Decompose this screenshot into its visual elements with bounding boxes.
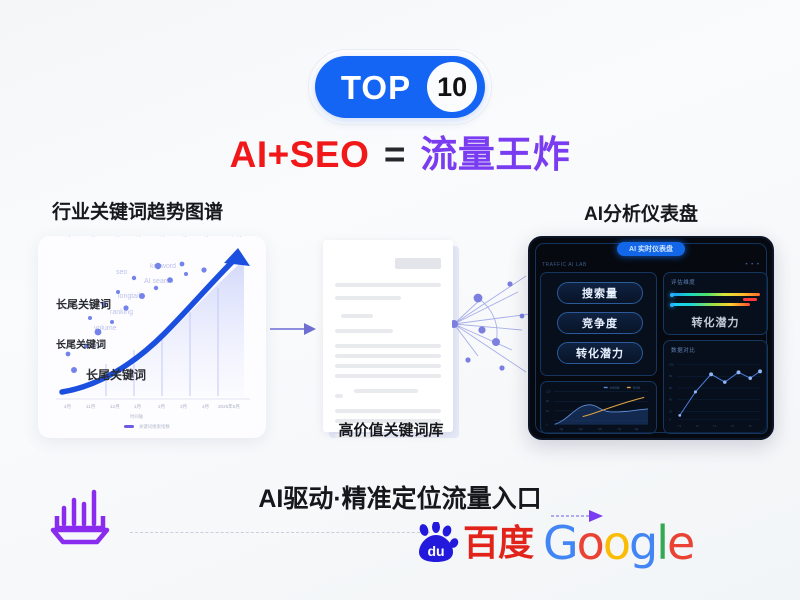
purple-arrow-icon bbox=[551, 508, 607, 522]
headline-left: AI+SEO bbox=[230, 134, 370, 175]
google-letter-o2: o bbox=[603, 516, 629, 570]
headline-right: 流量王炸 bbox=[420, 134, 570, 175]
google-letter-g1: G bbox=[543, 516, 577, 570]
svg-text:80: 80 bbox=[669, 374, 673, 378]
google-letter-e: e bbox=[667, 516, 693, 570]
svg-text:5月: 5月 bbox=[598, 427, 602, 431]
dashboard-topbar: AI 实时仪表盘 bbox=[530, 238, 772, 260]
svg-text:本期流量: 本期流量 bbox=[610, 386, 621, 390]
svg-text:11月: 11月 bbox=[86, 236, 95, 238]
baidu-wordmark: 百度 bbox=[463, 525, 533, 561]
svg-text:T4: T4 bbox=[731, 424, 735, 428]
gauge-overlay-label: 转化潜力 bbox=[664, 314, 767, 330]
top-badge-number: 10 bbox=[427, 62, 477, 112]
document-page bbox=[323, 240, 453, 432]
google-logo: Google bbox=[543, 520, 693, 566]
svg-text:4月: 4月 bbox=[202, 404, 209, 410]
svg-text:3月: 3月 bbox=[180, 404, 187, 410]
svg-text:longtail: longtail bbox=[118, 293, 141, 300]
svg-text:AI search: AI search bbox=[144, 278, 174, 285]
svg-text:40: 40 bbox=[546, 410, 549, 413]
svg-text:4月: 4月 bbox=[64, 404, 71, 410]
svg-text:2025年5月: 2025年5月 bbox=[220, 236, 242, 238]
svg-text:100: 100 bbox=[669, 362, 674, 366]
left-section-caption: 行业关键词趋势图谱 bbox=[52, 197, 223, 224]
svg-text:12月: 12月 bbox=[110, 404, 120, 410]
dashboard-title-pill: AI 实时仪表盘 bbox=[617, 242, 685, 256]
dashboard-kpi-panel: 搜索量 竞争度 转化潜力 bbox=[540, 272, 657, 376]
headline-equals: = bbox=[374, 134, 416, 175]
dashboard-menu-icon[interactable]: • • • bbox=[745, 262, 760, 268]
svg-text:volume: volume bbox=[94, 325, 117, 332]
svg-text:keyword: keyword bbox=[150, 263, 176, 270]
svg-text:预测值: 预测值 bbox=[633, 386, 641, 390]
svg-text:11月: 11月 bbox=[86, 404, 95, 410]
keyword-trend-chart: keyword AI search longtail ranking volum… bbox=[38, 236, 266, 438]
bottom-divider bbox=[130, 532, 430, 533]
svg-text:seo: seo bbox=[116, 269, 127, 276]
svg-text:时间轴: 时间轴 bbox=[130, 413, 144, 420]
top-badge-label: TOP bbox=[341, 71, 427, 104]
gauge-panel-title: 评估维度 bbox=[671, 278, 695, 286]
svg-text:60: 60 bbox=[669, 386, 673, 390]
gauge-bar-strength-a bbox=[672, 293, 760, 296]
svg-text:4月: 4月 bbox=[64, 236, 71, 238]
svg-text:20: 20 bbox=[669, 409, 673, 413]
svg-text:1月: 1月 bbox=[134, 236, 141, 238]
baidu-paw-icon: du bbox=[415, 522, 459, 564]
trend-label-2: 长尾关键词 bbox=[56, 338, 106, 351]
keyword-network-diagram bbox=[452, 268, 532, 380]
svg-text:3月: 3月 bbox=[579, 427, 583, 431]
svg-text:T2: T2 bbox=[695, 424, 699, 428]
gauge-alert-chip bbox=[743, 298, 757, 301]
dashboard-traffic-panel: 12080 400 1月3月 5月7月9月 本期流量 预测值 bbox=[540, 381, 657, 434]
dashboard-comparison-chart: 10080 6040 200 T1T2 T3T4T5 bbox=[664, 341, 767, 433]
flow-arrow-right-icon bbox=[270, 322, 316, 336]
gauge-marker-b bbox=[670, 303, 674, 307]
svg-text:ranking: ranking bbox=[110, 309, 133, 316]
dashboard-gauge-panel: 评估维度 转化潜力 bbox=[663, 272, 768, 335]
google-letter-o1: o bbox=[577, 516, 603, 570]
google-letter-g2: g bbox=[629, 516, 656, 570]
svg-text:2025年5月: 2025年5月 bbox=[218, 403, 240, 410]
svg-text:9月: 9月 bbox=[635, 427, 639, 431]
gauge-bar-strength-b bbox=[672, 303, 750, 306]
dashboard-traffic-chart: 12080 400 1月3月 5月7月9月 本期流量 预测值 bbox=[541, 382, 656, 433]
gauge-marker-a bbox=[670, 293, 674, 297]
svg-text:0: 0 bbox=[669, 417, 671, 421]
kpi-pill-competition[interactable]: 竞争度 bbox=[557, 312, 643, 334]
svg-text:关键词搜索指数: 关键词搜索指数 bbox=[139, 423, 170, 430]
svg-text:12月: 12月 bbox=[110, 236, 120, 238]
svg-text:T1: T1 bbox=[678, 424, 682, 428]
svg-text:4月: 4月 bbox=[202, 236, 209, 238]
svg-text:1月: 1月 bbox=[134, 404, 141, 410]
svg-text:0: 0 bbox=[546, 423, 548, 426]
dashboard-comparison-panel: 数据对比 10080 6040 200 bbox=[663, 340, 768, 434]
svg-text:T5: T5 bbox=[748, 424, 752, 428]
trend-label-3: 长尾关键词 bbox=[86, 367, 146, 382]
page-title: AI+SEO = 流量王炸 bbox=[0, 124, 800, 178]
google-wordmark: Google bbox=[543, 520, 693, 566]
baidu-logo: du 百度 bbox=[415, 522, 533, 564]
svg-text:120: 120 bbox=[546, 391, 551, 394]
top-badge: TOP 10 bbox=[315, 56, 485, 118]
svg-text:80: 80 bbox=[546, 400, 549, 403]
bottom-slogan: AI驱动·精准定位流量入口 bbox=[0, 479, 800, 515]
right-section-caption: AI分析仪表盘 bbox=[584, 199, 698, 226]
svg-text:2月: 2月 bbox=[158, 236, 165, 238]
kpi-pill-conversion-potential[interactable]: 转化潜力 bbox=[557, 342, 643, 364]
svg-text:du: du bbox=[427, 543, 444, 559]
svg-text:3月: 3月 bbox=[180, 236, 187, 238]
search-engine-logos: du 百度 Google bbox=[415, 520, 693, 566]
trend-label-1: 长尾关键词 bbox=[56, 297, 111, 311]
dashboard-brand: TRAFFIC AI LAB bbox=[542, 262, 587, 268]
ai-dashboard: AI 实时仪表盘 TRAFFIC AI LAB • • • 搜索量 竞争度 转化… bbox=[528, 236, 774, 440]
keyword-trend-card: keyword AI search longtail ranking volum… bbox=[38, 236, 266, 438]
svg-text:2月: 2月 bbox=[158, 404, 165, 410]
svg-text:T3: T3 bbox=[713, 424, 717, 428]
google-letter-l: l bbox=[656, 516, 667, 570]
document-caption: 高价值关键词库 bbox=[323, 419, 459, 440]
kpi-pill-search-volume[interactable]: 搜索量 bbox=[557, 282, 643, 304]
top-badge-container: TOP 10 bbox=[0, 56, 800, 118]
keyword-library-document: 高价值关键词库 bbox=[323, 240, 459, 438]
svg-text:40: 40 bbox=[669, 398, 673, 402]
svg-text:1月: 1月 bbox=[560, 427, 564, 431]
document-header-block bbox=[395, 258, 441, 269]
svg-text:7月: 7月 bbox=[617, 427, 621, 431]
